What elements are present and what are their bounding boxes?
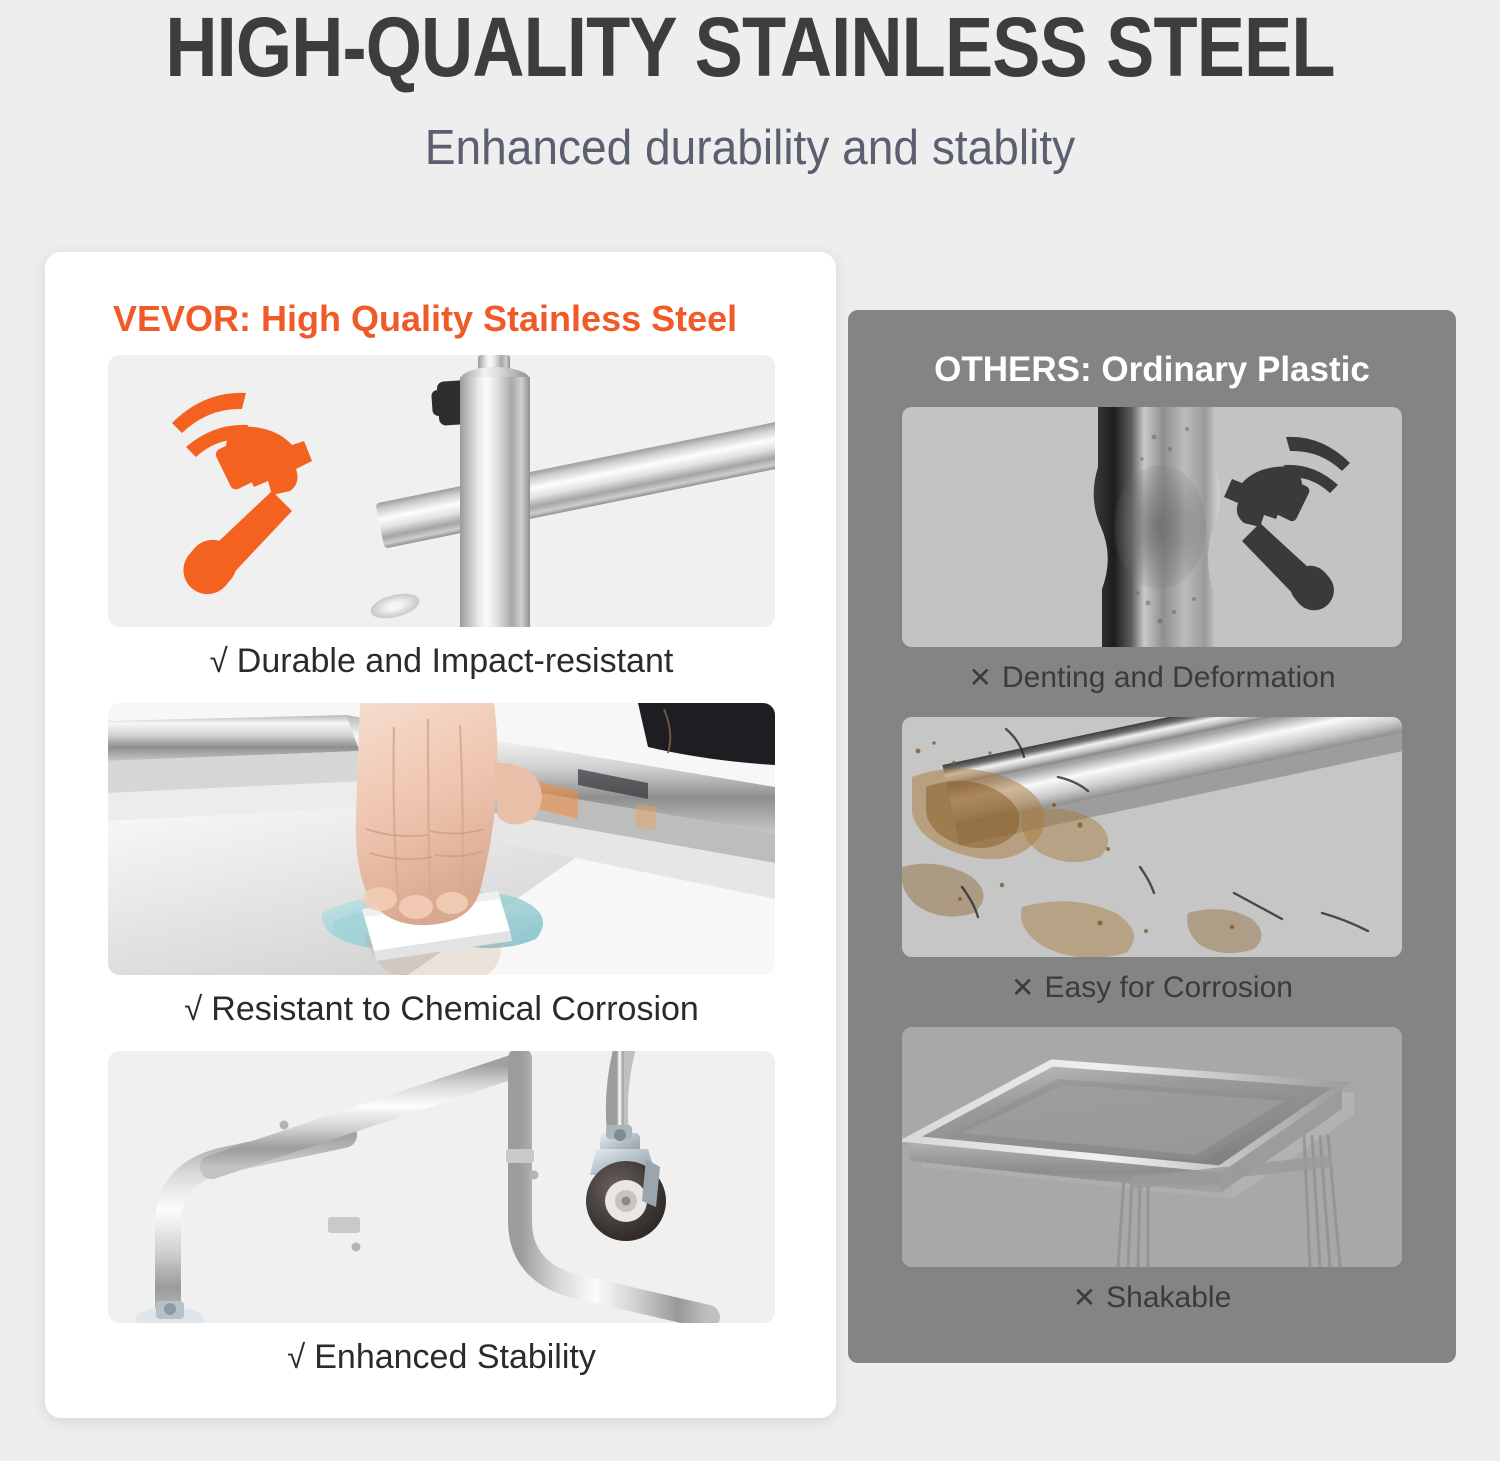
vevor-list-item: √Resistant to Chemical Corrosion <box>108 703 775 1049</box>
vevor-item-caption: √Resistant to Chemical Corrosion <box>108 975 775 1049</box>
page-header: HIGH-QUALITY STAINLESS STEEL Enhanced du… <box>0 0 1500 200</box>
check-icon: √ <box>184 990 202 1027</box>
others-caption-text: Shakable <box>1106 1281 1231 1314</box>
others-list-item: ✕Easy for Corrosion <box>902 717 1402 1022</box>
vevor-list-item: √Enhanced Stability <box>108 1051 775 1397</box>
check-icon: √ <box>210 642 228 679</box>
others-panel-title: OTHERS: Ordinary Plastic <box>848 350 1456 390</box>
others-caption-text: Denting and Deformation <box>1002 661 1336 694</box>
vevor-caption-text: Resistant to Chemical Corrosion <box>211 990 699 1028</box>
cross-icon: ✕ <box>969 662 992 693</box>
page-subtitle: Enhanced durability and stablity <box>45 122 1455 176</box>
others-comparison-panel: OTHERS: Ordinary Plastic <box>848 310 1456 1363</box>
vevor-item-caption: √Durable and Impact-resistant <box>108 627 775 701</box>
cross-icon: ✕ <box>1073 1282 1096 1313</box>
others-item-caption: ✕Easy for Corrosion <box>902 957 1402 1022</box>
stainless-tubular-legs-with-caster-wheel-image <box>108 1051 775 1323</box>
others-list-item: ✕Denting and Deformation <box>902 407 1402 712</box>
orange-hammer-striking-stainless-pole-image <box>108 355 775 627</box>
check-icon: √ <box>287 1338 305 1375</box>
vevor-item-caption: √Enhanced Stability <box>108 1323 775 1397</box>
others-item-caption: ✕Denting and Deformation <box>902 647 1402 712</box>
rust-stained-corroded-tray-surface-image <box>902 717 1402 957</box>
vevor-caption-text: Enhanced Stability <box>314 1338 596 1376</box>
vevor-feature-list: √Durable and Impact-resistant <box>108 355 775 1399</box>
vevor-caption-text: Durable and Impact-resistant <box>237 642 674 680</box>
others-feature-list: ✕Denting and Deformation <box>902 407 1402 1337</box>
vevor-list-item: √Durable and Impact-resistant <box>108 355 775 701</box>
hand-wiping-stainless-tray-with-sponge-image <box>108 703 775 975</box>
cross-icon: ✕ <box>1011 972 1034 1003</box>
vevor-card-title: VEVOR: High Quality Stainless Steel <box>113 298 737 340</box>
vevor-comparison-card: VEVOR: High Quality Stainless Steel <box>45 252 836 1418</box>
others-caption-text: Easy for Corrosion <box>1045 971 1293 1004</box>
wobbling-tray-on-thin-legs-image <box>902 1027 1402 1267</box>
dark-hammer-denting-plastic-tube-image <box>902 407 1402 647</box>
others-item-caption: ✕Shakable <box>902 1267 1402 1332</box>
others-list-item: ✕Shakable <box>902 1027 1402 1332</box>
page-title: HIGH-QUALITY STAINLESS STEEL <box>105 3 1395 91</box>
